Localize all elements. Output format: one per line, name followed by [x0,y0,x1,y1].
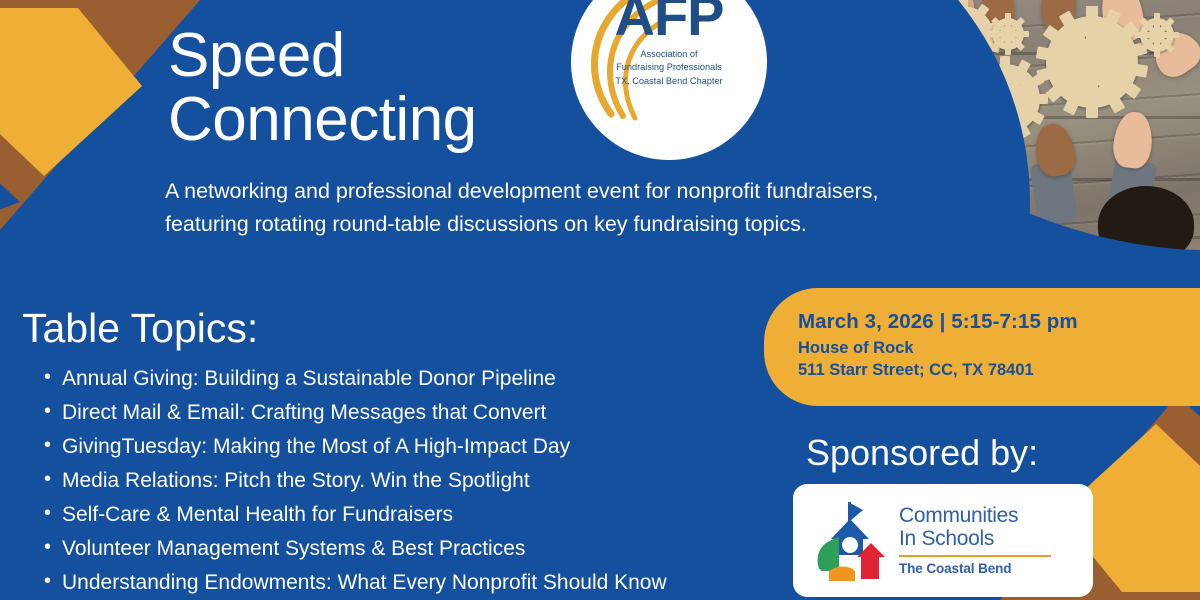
list-item: Media Relations: Pitch the Story. Win th… [40,464,770,498]
afp-acronym: AFP [571,0,767,44]
afp-logo: AFP Association of Fundraising Professio… [571,0,767,160]
event-address: 511 Starr Street; CC, TX 78401 [798,361,1200,380]
page-title: Speed Connecting [168,24,477,152]
list-item: Direct Mail & Email: Crafting Messages t… [40,396,770,430]
list-item: Understanding Endowments: What Every Non… [40,566,770,600]
event-details-card: March 3, 2026 | 5:15-7:15 pm House of Ro… [764,288,1200,406]
sponsor-chapter: The Coastal Bend [899,561,1051,576]
list-item: Annual Giving: Building a Sustainable Do… [40,362,770,396]
afp-line-2: Fundraising Professionals [571,61,767,74]
description-line-1: A networking and professional developmen… [165,175,985,208]
sponsor-name-line-2: In Schools [899,528,1051,550]
table-topics-heading: Table Topics: [22,305,258,352]
table-topics-list: Annual Giving: Building a Sustainable Do… [40,362,770,600]
event-date-time: March 3, 2026 | 5:15-7:15 pm [798,310,1200,334]
title-line-2: Connecting [168,88,477,152]
event-flyer: AFP Association of Fundraising Professio… [0,0,1200,600]
afp-line-1: Association of [571,48,767,61]
event-venue: House of Rock [798,339,1200,358]
communities-in-schools-icon [809,499,893,583]
list-item: Self-Care & Mental Health for Fundraiser… [40,498,770,532]
list-item: GivingTuesday: Making the Most of A High… [40,430,770,464]
event-description: A networking and professional developmen… [165,175,985,240]
sponsor-name-line-1: Communities [899,505,1051,527]
sponsor-divider [899,555,1051,557]
list-item: Volunteer Management Systems & Best Prac… [40,532,770,566]
description-line-2: featuring rotating round-table discussio… [165,208,985,241]
sponsored-by-heading: Sponsored by: [806,432,1038,474]
sponsor-logo-card: Communities In Schools The Coastal Bend [793,484,1093,597]
afp-line-3: TX, Coastal Bend Chapter [571,75,767,88]
title-line-1: Speed [168,24,477,88]
